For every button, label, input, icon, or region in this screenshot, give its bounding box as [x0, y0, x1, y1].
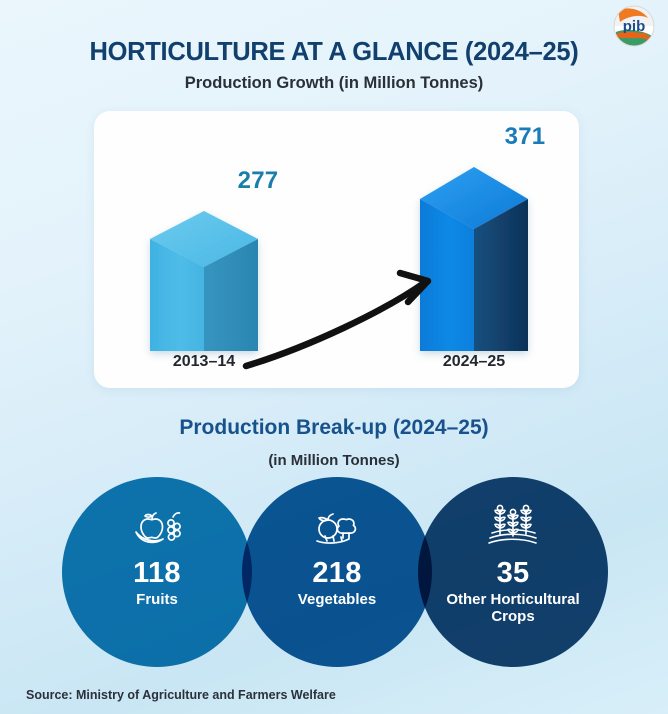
breakup-subtitle: (in Million Tonnes) — [0, 452, 668, 469]
bar-label-2024: 2024–25 — [394, 353, 554, 371]
bar-2024-25 — [420, 167, 528, 351]
circle-fruits[interactable] — [62, 477, 252, 667]
page-title: HORTICULTURE AT A GLANCE (2024–25) — [0, 38, 668, 67]
breakup-circles: 118 Fruits 218 Vegetables — [0, 477, 668, 672]
pib-logo-text: pib — [623, 18, 646, 35]
source-note: Source: Ministry of Agriculture and Farm… — [26, 688, 336, 702]
bar-label-2013: 2013–14 — [124, 353, 284, 371]
circle-vegetables[interactable] — [242, 477, 432, 667]
page-subtitle: Production Growth (in Million Tonnes) — [0, 74, 668, 93]
breakup-title: Production Break-up (2024–25) — [0, 416, 668, 440]
circle-other-crops[interactable] — [418, 477, 608, 667]
bar-2013-14 — [150, 211, 258, 351]
production-growth-card: 277 371 — [94, 111, 579, 388]
bars-svg — [94, 111, 579, 388]
